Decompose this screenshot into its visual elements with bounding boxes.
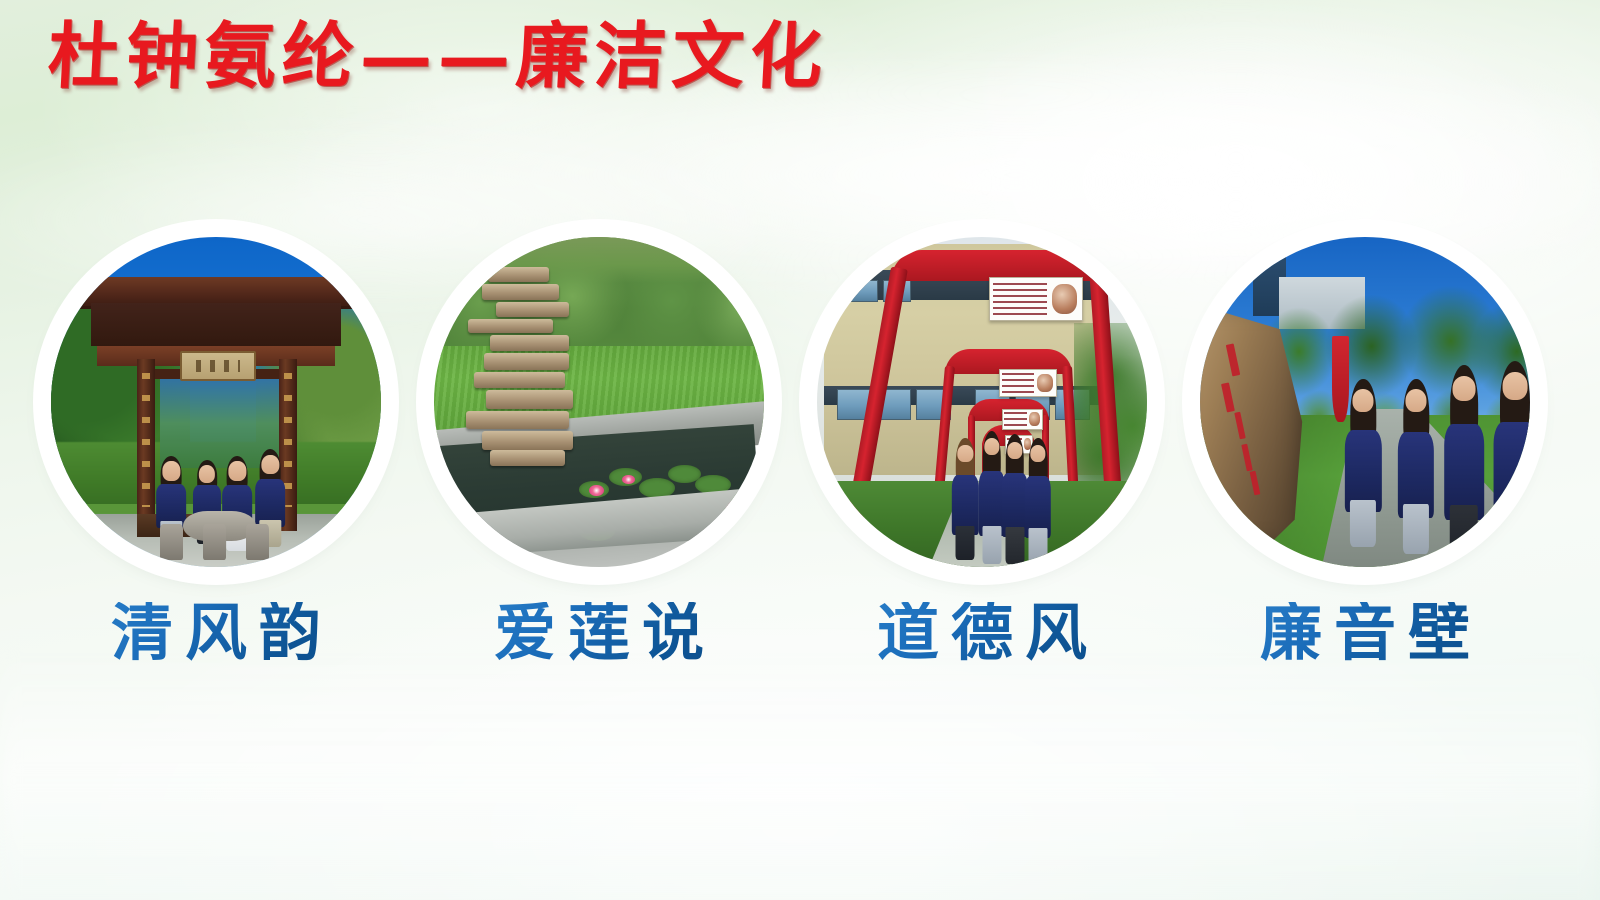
head (984, 438, 999, 455)
stacked-rockery (480, 263, 579, 468)
photo-lotus-pond (434, 237, 764, 567)
photo-inscribed-boulder (1200, 237, 1530, 567)
legs (982, 526, 1001, 564)
scene-red-arch-corridor (817, 237, 1147, 567)
head (1007, 442, 1022, 459)
scene-rockery-lotus-pond (434, 237, 764, 567)
window (850, 280, 878, 302)
water-lily-flower (589, 485, 604, 496)
photo-red-arch-corridor (817, 237, 1147, 567)
legs (1005, 527, 1024, 564)
notice-board-large (989, 277, 1083, 322)
head (1406, 389, 1427, 413)
pavilion-roof-eave (71, 277, 361, 307)
gallery-caption-2: 爱莲说 (425, 602, 773, 664)
stone-stool (160, 524, 183, 560)
background-mist-right (980, 0, 1600, 260)
notice-board-small (1002, 409, 1044, 431)
legs (1500, 506, 1530, 563)
legs (1029, 528, 1048, 564)
head (262, 455, 279, 474)
gallery-caption-4: 廉音壁 (1191, 602, 1539, 664)
slide-canvas: 杜钟氨纶——廉洁文化 (0, 0, 1600, 900)
head (163, 461, 180, 480)
stone-stool (203, 524, 226, 560)
gallery-photo-2[interactable] (425, 228, 773, 576)
gallery-photo-4[interactable] (1191, 228, 1539, 576)
pavilion-interior-view (160, 369, 279, 468)
pavilion-name-plaque (180, 351, 257, 381)
person (952, 445, 978, 561)
legs (1450, 505, 1479, 560)
pavilion-roof-under (91, 303, 342, 346)
legs (956, 526, 975, 561)
person-pointing (1345, 389, 1381, 547)
head (1453, 376, 1476, 402)
scene-inscribed-boulder (1200, 237, 1530, 567)
notice-board-medium (999, 369, 1057, 397)
legs (1403, 504, 1429, 554)
person (1025, 445, 1051, 564)
slide-title: 杜钟氨纶——廉洁文化 (46, 20, 830, 92)
gallery-caption-3: 道德风 (808, 602, 1156, 664)
gallery-photo-1[interactable] (42, 228, 390, 576)
scene-wooden-pavilion (51, 237, 381, 567)
gallery-photo-3[interactable] (808, 228, 1156, 576)
background-mist-bottom (0, 640, 1600, 900)
head (1030, 445, 1045, 462)
photo-pavilion (51, 237, 381, 567)
head (199, 465, 215, 483)
person (1398, 389, 1434, 554)
gallery-caption-1: 清风韵 (42, 602, 390, 664)
head (1503, 372, 1528, 400)
head (1353, 389, 1374, 413)
stone-stool (246, 524, 269, 560)
legs (1350, 500, 1376, 548)
person (1494, 372, 1530, 563)
head (229, 461, 246, 480)
head (958, 445, 973, 462)
person (1444, 376, 1484, 561)
pavilion-pillar-left (137, 359, 155, 531)
